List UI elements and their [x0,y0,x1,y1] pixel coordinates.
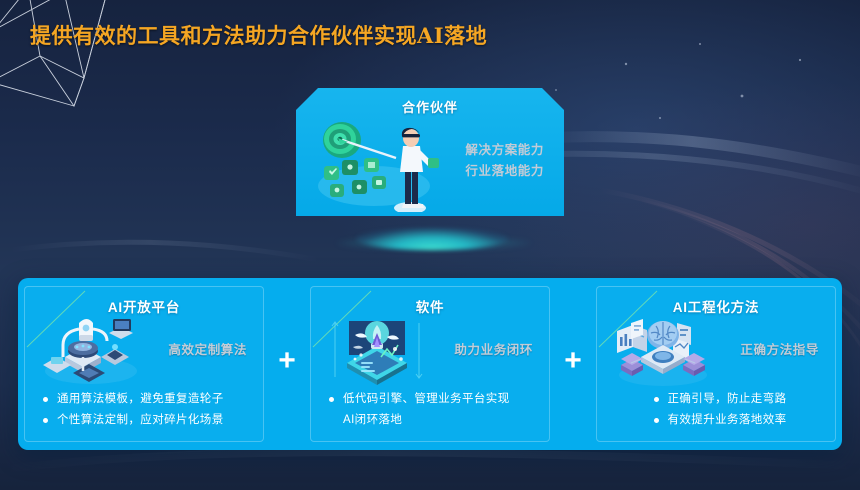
bullet-item: 有效提升业务落地效率 [609,412,825,430]
bullet-item: 个性算法定制，应对碎片化场景 [37,412,253,430]
column-title: AI开放平台 [25,296,263,316]
bullet-dot-icon [654,418,659,423]
bullet-item: 低代码引擎、管理业务平台实现 [323,391,539,409]
bullet-dot-icon [43,397,48,402]
bullet-item: 正确引导，防止走弯路 [609,391,825,409]
capability-column-ai-platform: AI开放平台 [18,278,270,450]
capability-column-ai-engineering: AI工程化方法 [590,278,842,450]
column-subtitle: 正确方法指导 [740,339,819,358]
bullet-item-continued: AI闭环落地 [323,412,539,430]
partner-capability-0: 解决方案能力 [465,140,544,161]
bullet-text: 个性算法定制，应对碎片化场景 [57,412,253,430]
bullet-text: 有效提升业务落地效率 [668,412,787,430]
column-bullets: 正确引导，防止走弯路 有效提升业务落地效率 [609,391,825,433]
slide-canvas: 提供有效的工具和方法助力合作伙伴实现AI落地 合作伙伴 [0,0,860,490]
partner-card-capabilities: 解决方案能力 行业落地能力 [465,140,544,181]
column-title: AI工程化方法 [597,296,835,316]
connector-glow [356,228,508,250]
column-bullets: 低代码引擎、管理业务平台实现 AI闭环落地 [323,391,539,433]
partner-capability-1: 行业落地能力 [465,161,544,182]
rocket-lightbulb-tablet-illustration [325,315,429,387]
bullet-item: 通用算法模板，避免重复造轮子 [37,391,253,409]
column-subtitle: 高效定制算法 [168,339,247,358]
bullet-text: AI闭环落地 [343,412,539,430]
bullet-dot-icon [329,397,334,402]
partner-card: 合作伙伴 [296,88,564,216]
column-subtitle: 助力业务闭环 [454,339,533,358]
bullet-text: 通用算法模板，避免重复造轮子 [57,391,253,409]
plus-separator-1: + [270,278,304,450]
page-title: 提供有效的工具和方法助力合作伙伴实现AI落地 [30,22,500,50]
person-target-apps-illustration [308,114,458,212]
bullet-text: 低代码引擎、管理业务平台实现 [343,391,539,409]
plus-separator-2: + [556,278,590,450]
bullet-text: 正确引导，防止走弯路 [668,391,787,409]
column-title: 软件 [311,296,549,316]
brain-analytics-isometric-illustration [611,315,715,387]
capability-panel: AI开放平台 [18,278,842,450]
capability-column-software: 软件 [304,278,556,450]
column-bullets: 通用算法模板，避免重复造轮子 个性算法定制，应对碎片化场景 [37,391,253,433]
ai-platform-isometric-illustration [39,315,143,387]
bullet-dot-icon [654,397,659,402]
bullet-dot-icon [43,418,48,423]
